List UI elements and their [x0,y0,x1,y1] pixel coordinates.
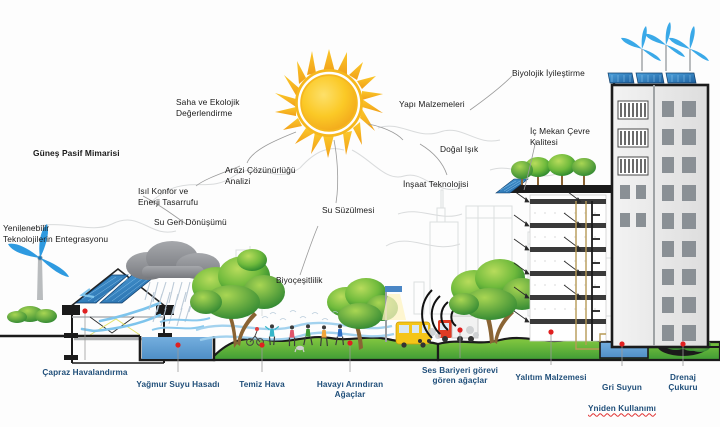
label-havayi-arindiran-agaclar: Havayı Arındıran Ağaçlar [317,380,383,400]
label-capraz-havalandirma: Çapraz Havalandırma [42,368,127,378]
label-yagmur-suyu-hasadi: Yağmur Suyu Hasadı [136,380,219,390]
label-drenaj-cukuru: Drenaj Çukuru [665,373,702,393]
label-dogal-isik: Doğal Işık [440,144,478,155]
label-yenilenebilir-teknolojilerin-entegrasyonu: Yenilenebilir Teknolojilerin Entegrasyon… [3,223,108,244]
label-insaat-teknolojisi: İnşaat Teknolojisi [403,179,468,190]
label-ses-bariyeri-goren-agaclar: Ses Bariyeri görevi gören ağaçlar [422,366,498,386]
label-arazi-cozunurlugu-analizi: Arazi Çözünürlüğü Analizi [225,165,296,186]
label-su-geri-donusumu: Su Geri Dönüşümü [154,217,227,228]
label-biyocesitlilik: Biyoçeşitlilik [276,275,323,286]
label-biyolojik-iyilestirme: Biyolojik İyileştirme [512,68,585,79]
label-su-suzulmesi: Su Süzülmesi [322,205,374,216]
label-saha-ve-ekolojik-degerlendirme: Saha ve Ekolojik Değerlendirme [176,97,240,118]
label-isil-konfor-ve-enerji-tasarrufu: Isıl Konfor ve Enerji Tasarrufu [138,186,198,207]
label-line-2-misspelled: Yniden Kullanımı [588,404,656,413]
label-gri-suyun-yeniden-kullanimi: Gri Suyun Yniden Kullanımı [588,373,656,414]
label-ic-mekan-cevre-kalitesi: İç Mekan Çevre Kalitesi [530,126,590,147]
sustainable-urban-design-diagram: Saha ve Ekolojik Değerlendirme Güneş Pas… [0,0,720,427]
solar-panel [608,73,696,83]
label-temiz-hava: Temiz Hava [239,380,284,390]
label-line-1: Gri Suyun [602,383,642,392]
label-gunes-pasif-mimarisi: Güneş Pasif Mimarisi [33,148,120,159]
label-yalitim-malzemesi: Yalıtım Malzemesi [515,373,586,383]
label-yapi-malzemeleri: Yapı Malzemeleri [399,99,465,110]
